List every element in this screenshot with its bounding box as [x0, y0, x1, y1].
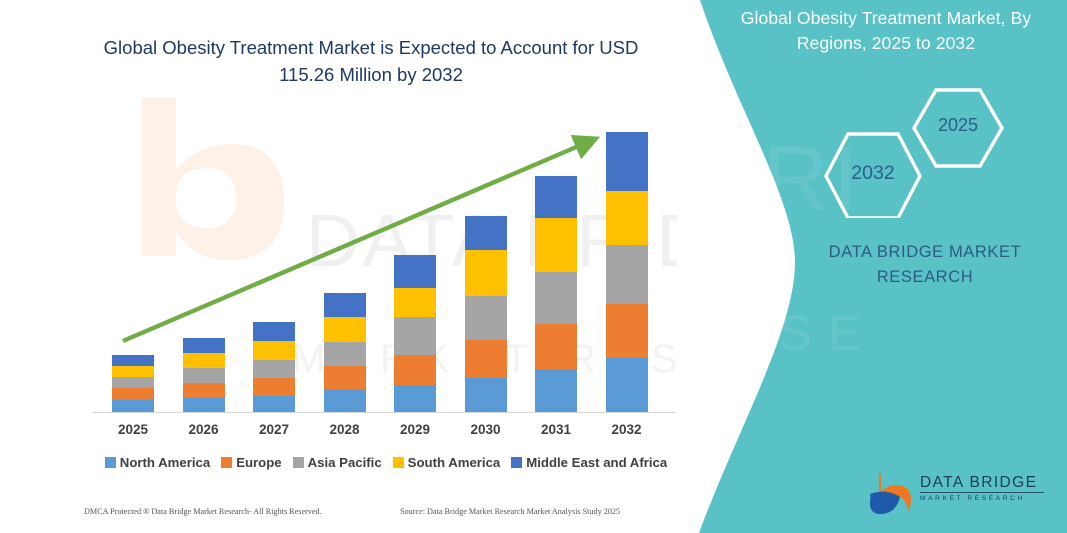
bar-segment-middle-east-and-africa	[535, 176, 577, 218]
bar-segment-asia-pacific	[535, 272, 577, 324]
bar-segment-asia-pacific	[112, 377, 154, 388]
panel-brand-line: DATA BRIDGE MARKET RESEARCH	[790, 240, 1060, 290]
bar-segment-middle-east-and-africa	[253, 322, 295, 341]
bar-segment-middle-east-and-africa	[465, 216, 507, 250]
stacked-bar-chart: 20252026202720282029203020312032 North A…	[0, 0, 700, 470]
hexagon-2032-label: 2032	[826, 162, 920, 185]
bar-segment-europe	[183, 383, 225, 398]
x-label-2030: 2030	[446, 422, 526, 437]
legend-label: Asia Pacific	[308, 455, 382, 470]
year-hexagon-badges: 2025 2032	[806, 88, 1006, 218]
bar-segment-north-america	[606, 358, 648, 412]
legend-label: Europe	[236, 455, 281, 470]
bar-2028	[324, 293, 366, 412]
logo-mark-icon	[866, 472, 914, 516]
bar-segment-europe	[253, 378, 295, 396]
logo-divider	[920, 492, 1044, 493]
bar-segment-south-america	[112, 366, 154, 377]
legend-label: Middle East and Africa	[526, 455, 667, 470]
legend-swatch-icon	[105, 457, 116, 468]
footer-copyright: DMCA Protected ® Data Bridge Market Rese…	[84, 507, 322, 516]
bar-segment-asia-pacific	[253, 360, 295, 378]
bar-segment-europe	[394, 355, 436, 385]
legend-swatch-icon	[393, 457, 404, 468]
bar-segment-north-america	[535, 369, 577, 412]
bar-segment-middle-east-and-africa	[112, 355, 154, 366]
bar-segment-north-america	[324, 389, 366, 412]
bar-segment-middle-east-and-africa	[183, 338, 225, 353]
hexagon-2025-label: 2025	[914, 115, 1002, 136]
legend-item-asia-pacific[interactable]: Asia Pacific	[293, 455, 382, 470]
bar-segment-south-america	[535, 218, 577, 272]
bar-2032	[606, 132, 648, 412]
bar-segment-south-america	[253, 341, 295, 360]
infographic-canvas: DATA BRIDGE MARKET RESEARCH Global Obesi…	[0, 0, 1067, 533]
bar-2027	[253, 322, 295, 412]
legend-item-north-america[interactable]: North America	[105, 455, 210, 470]
bar-segment-north-america	[394, 385, 436, 412]
legend-item-middle-east-and-africa[interactable]: Middle East and Africa	[511, 455, 667, 470]
bar-segment-north-america	[253, 396, 295, 412]
legend-swatch-icon	[221, 457, 232, 468]
bar-segment-asia-pacific	[394, 317, 436, 355]
bar-segment-europe	[112, 388, 154, 400]
bar-2031	[535, 176, 577, 412]
bar-segment-europe	[606, 304, 648, 358]
panel-title: Global Obesity Treatment Market, By Regi…	[712, 6, 1060, 56]
bar-segment-south-america	[394, 288, 436, 317]
bar-segment-south-america	[324, 317, 366, 342]
bar-segment-asia-pacific	[465, 296, 507, 340]
chart-legend: North AmericaEuropeAsia PacificSouth Ame…	[96, 455, 676, 470]
bar-segment-south-america	[606, 191, 648, 245]
bar-2025	[112, 355, 154, 412]
bar-2026	[183, 338, 225, 412]
legend-item-europe[interactable]: Europe	[221, 455, 281, 470]
legend-label: South America	[408, 455, 501, 470]
data-bridge-logo: DATA BRIDGE MARKET RESEARCH	[866, 470, 1046, 518]
bar-segment-asia-pacific	[324, 342, 366, 366]
legend-item-south-america[interactable]: South America	[393, 455, 501, 470]
x-label-2032: 2032	[587, 422, 667, 437]
x-label-2025: 2025	[93, 422, 173, 437]
footer-source: Source: Data Bridge Market Research Mark…	[400, 507, 620, 516]
x-axis-line	[92, 412, 676, 413]
bar-segment-middle-east-and-africa	[606, 132, 648, 191]
x-label-2026: 2026	[164, 422, 244, 437]
bar-segment-middle-east-and-africa	[324, 293, 366, 317]
bar-segment-europe	[535, 324, 577, 369]
legend-swatch-icon	[293, 457, 304, 468]
bar-segment-south-america	[465, 250, 507, 296]
bar-segment-middle-east-and-africa	[394, 255, 436, 288]
x-label-2027: 2027	[234, 422, 314, 437]
bar-segment-asia-pacific	[183, 368, 225, 383]
legend-swatch-icon	[511, 457, 522, 468]
legend-label: North America	[120, 455, 210, 470]
bar-segment-south-america	[183, 353, 225, 368]
bar-segment-north-america	[183, 398, 225, 412]
logo-tagline: MARKET RESEARCH	[920, 494, 1046, 503]
bar-2030	[465, 216, 507, 412]
x-label-2029: 2029	[375, 422, 455, 437]
x-label-2031: 2031	[516, 422, 596, 437]
logo-text: DATA BRIDGE MARKET RESEARCH	[920, 474, 1046, 503]
footer-bar: DMCA Protected ® Data Bridge Market Rese…	[0, 507, 700, 527]
bar-segment-europe	[324, 366, 366, 389]
svg-text:RESE: RESE	[677, 305, 877, 361]
logo-name: DATA BRIDGE	[920, 474, 1046, 491]
x-label-2028: 2028	[305, 422, 385, 437]
bar-segment-asia-pacific	[606, 245, 648, 304]
bar-segment-north-america	[112, 400, 154, 412]
bar-segment-europe	[465, 340, 507, 378]
bar-segment-north-america	[465, 378, 507, 412]
bar-2029	[394, 255, 436, 412]
